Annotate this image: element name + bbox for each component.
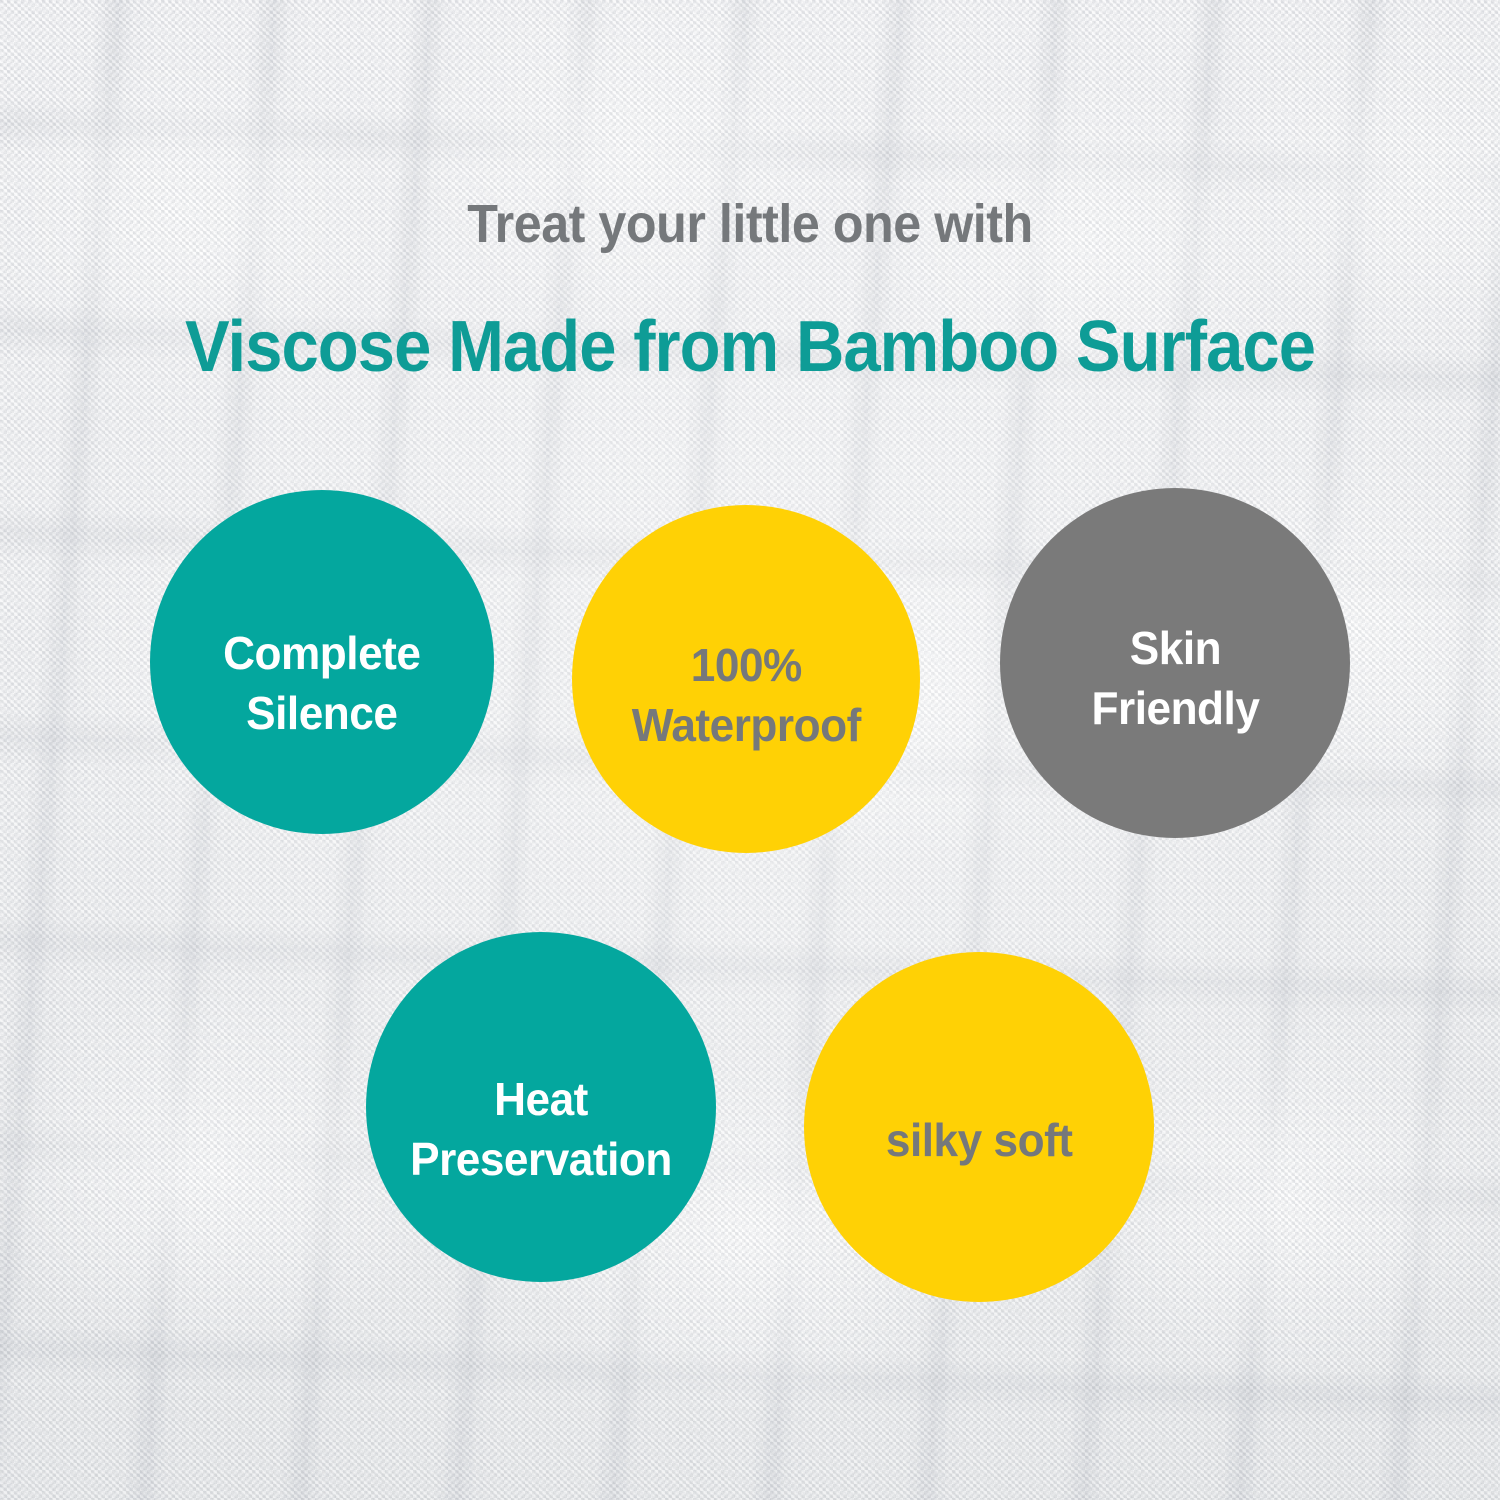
feature-badge-silky-soft: silky soft <box>804 952 1154 1302</box>
feature-label: 100% Waterproof <box>631 602 860 756</box>
feature-badge-skin-friendly: Skin Friendly <box>1000 488 1350 838</box>
poster-title: Viscose Made from Bamboo Surface <box>53 309 1448 385</box>
feature-label: Heat Preservation <box>373 1024 709 1190</box>
feature-label: Complete Silence <box>223 580 420 744</box>
feature-badge-heat-preservation: Heat Preservation <box>366 932 716 1282</box>
feature-badge-complete-silence: Complete Silence <box>150 490 494 834</box>
feature-badge-waterproof: 100% Waterproof <box>572 505 920 853</box>
heading-block: Treat your little one with Viscose Made … <box>0 196 1500 386</box>
feature-label: silky soft <box>886 1083 1073 1171</box>
product-infographic-poster: Treat your little one with Viscose Made … <box>0 0 1500 1500</box>
poster-subtitle: Treat your little one with <box>53 196 1448 253</box>
feature-label: Skin Friendly <box>1091 587 1259 739</box>
